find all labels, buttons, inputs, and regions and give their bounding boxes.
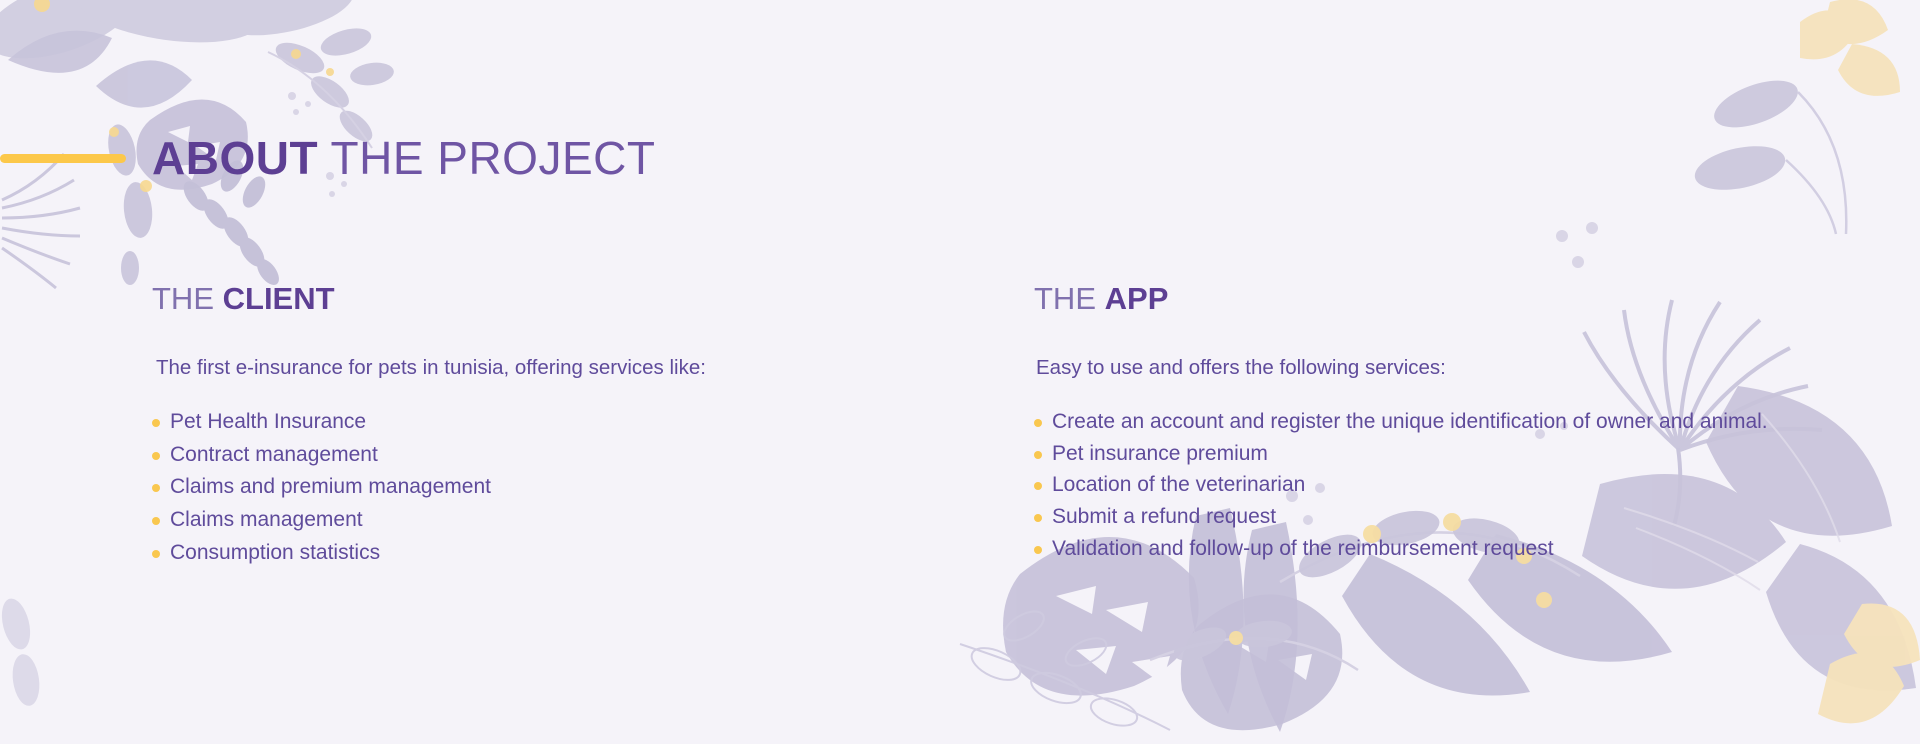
column-client: THE CLIENT The first e-insurance for pet… (152, 282, 872, 574)
title-accent-bar (0, 154, 126, 163)
list-item: Contract management (152, 443, 872, 468)
column-app-bullet-list: Create an account and register the uniqu… (1034, 410, 1794, 562)
bullet-dot-icon (1034, 546, 1042, 554)
bullet-dot-icon (152, 452, 160, 460)
list-item-label: Location of the veterinarian (1052, 473, 1305, 496)
column-client-heading-light: THE (152, 281, 223, 316)
list-item-label: Claims management (170, 508, 363, 531)
column-app-heading-light: THE (1034, 281, 1105, 316)
page-title-light: THE PROJECT (318, 132, 655, 184)
list-item-label: Claims and premium management (170, 475, 491, 498)
list-item: Submit a refund request (1034, 505, 1794, 530)
page-title: ABOUT THE PROJECT (152, 135, 655, 181)
column-client-heading: THE CLIENT (152, 282, 872, 316)
bullet-dot-icon (1034, 514, 1042, 522)
bullet-dot-icon (1034, 482, 1042, 490)
column-app-heading-strong: APP (1105, 281, 1169, 316)
column-app-heading: THE APP (1034, 282, 1794, 316)
list-item: Claims management (152, 508, 872, 533)
bullet-dot-icon (152, 419, 160, 427)
column-app: THE APP Easy to use and offers the follo… (1034, 282, 1794, 574)
column-client-bullet-list: Pet Health Insurance Contract management… (152, 410, 872, 566)
list-item-label: Submit a refund request (1052, 505, 1276, 528)
column-client-intro: The first e-insurance for pets in tunisi… (156, 354, 872, 382)
list-item-label: Consumption statistics (170, 541, 380, 564)
bullet-dot-icon (152, 550, 160, 558)
page-title-row: ABOUT THE PROJECT (0, 128, 655, 188)
bullet-dot-icon (152, 484, 160, 492)
content-columns: THE CLIENT The first e-insurance for pet… (0, 282, 1920, 574)
list-item: Location of the veterinarian (1034, 473, 1794, 498)
list-item-label: Contract management (170, 443, 378, 466)
bullet-dot-icon (1034, 451, 1042, 459)
list-item-label: Validation and follow-up of the reimburs… (1052, 537, 1554, 560)
slide-canvas: ABOUT THE PROJECT THE CLIENT The first e… (0, 0, 1920, 744)
page-title-strong: ABOUT (152, 132, 318, 184)
list-item-label: Pet insurance premium (1052, 442, 1268, 465)
botanical-decoration-bottom-left (0, 584, 120, 744)
list-item: Claims and premium management (152, 475, 872, 500)
botanical-decoration-top-right (1400, 0, 1920, 330)
list-item-label: Pet Health Insurance (170, 410, 366, 433)
bullet-dot-icon (1034, 419, 1042, 427)
bullet-dot-icon (152, 517, 160, 525)
list-item-label: Create an account and register the uniqu… (1052, 410, 1768, 433)
list-item: Validation and follow-up of the reimburs… (1034, 537, 1794, 562)
list-item: Consumption statistics (152, 541, 872, 566)
list-item: Create an account and register the uniqu… (1034, 410, 1794, 435)
list-item: Pet insurance premium (1034, 442, 1794, 467)
list-item: Pet Health Insurance (152, 410, 872, 435)
column-app-intro: Easy to use and offers the following ser… (1036, 354, 1794, 382)
column-client-heading-strong: CLIENT (223, 281, 335, 316)
